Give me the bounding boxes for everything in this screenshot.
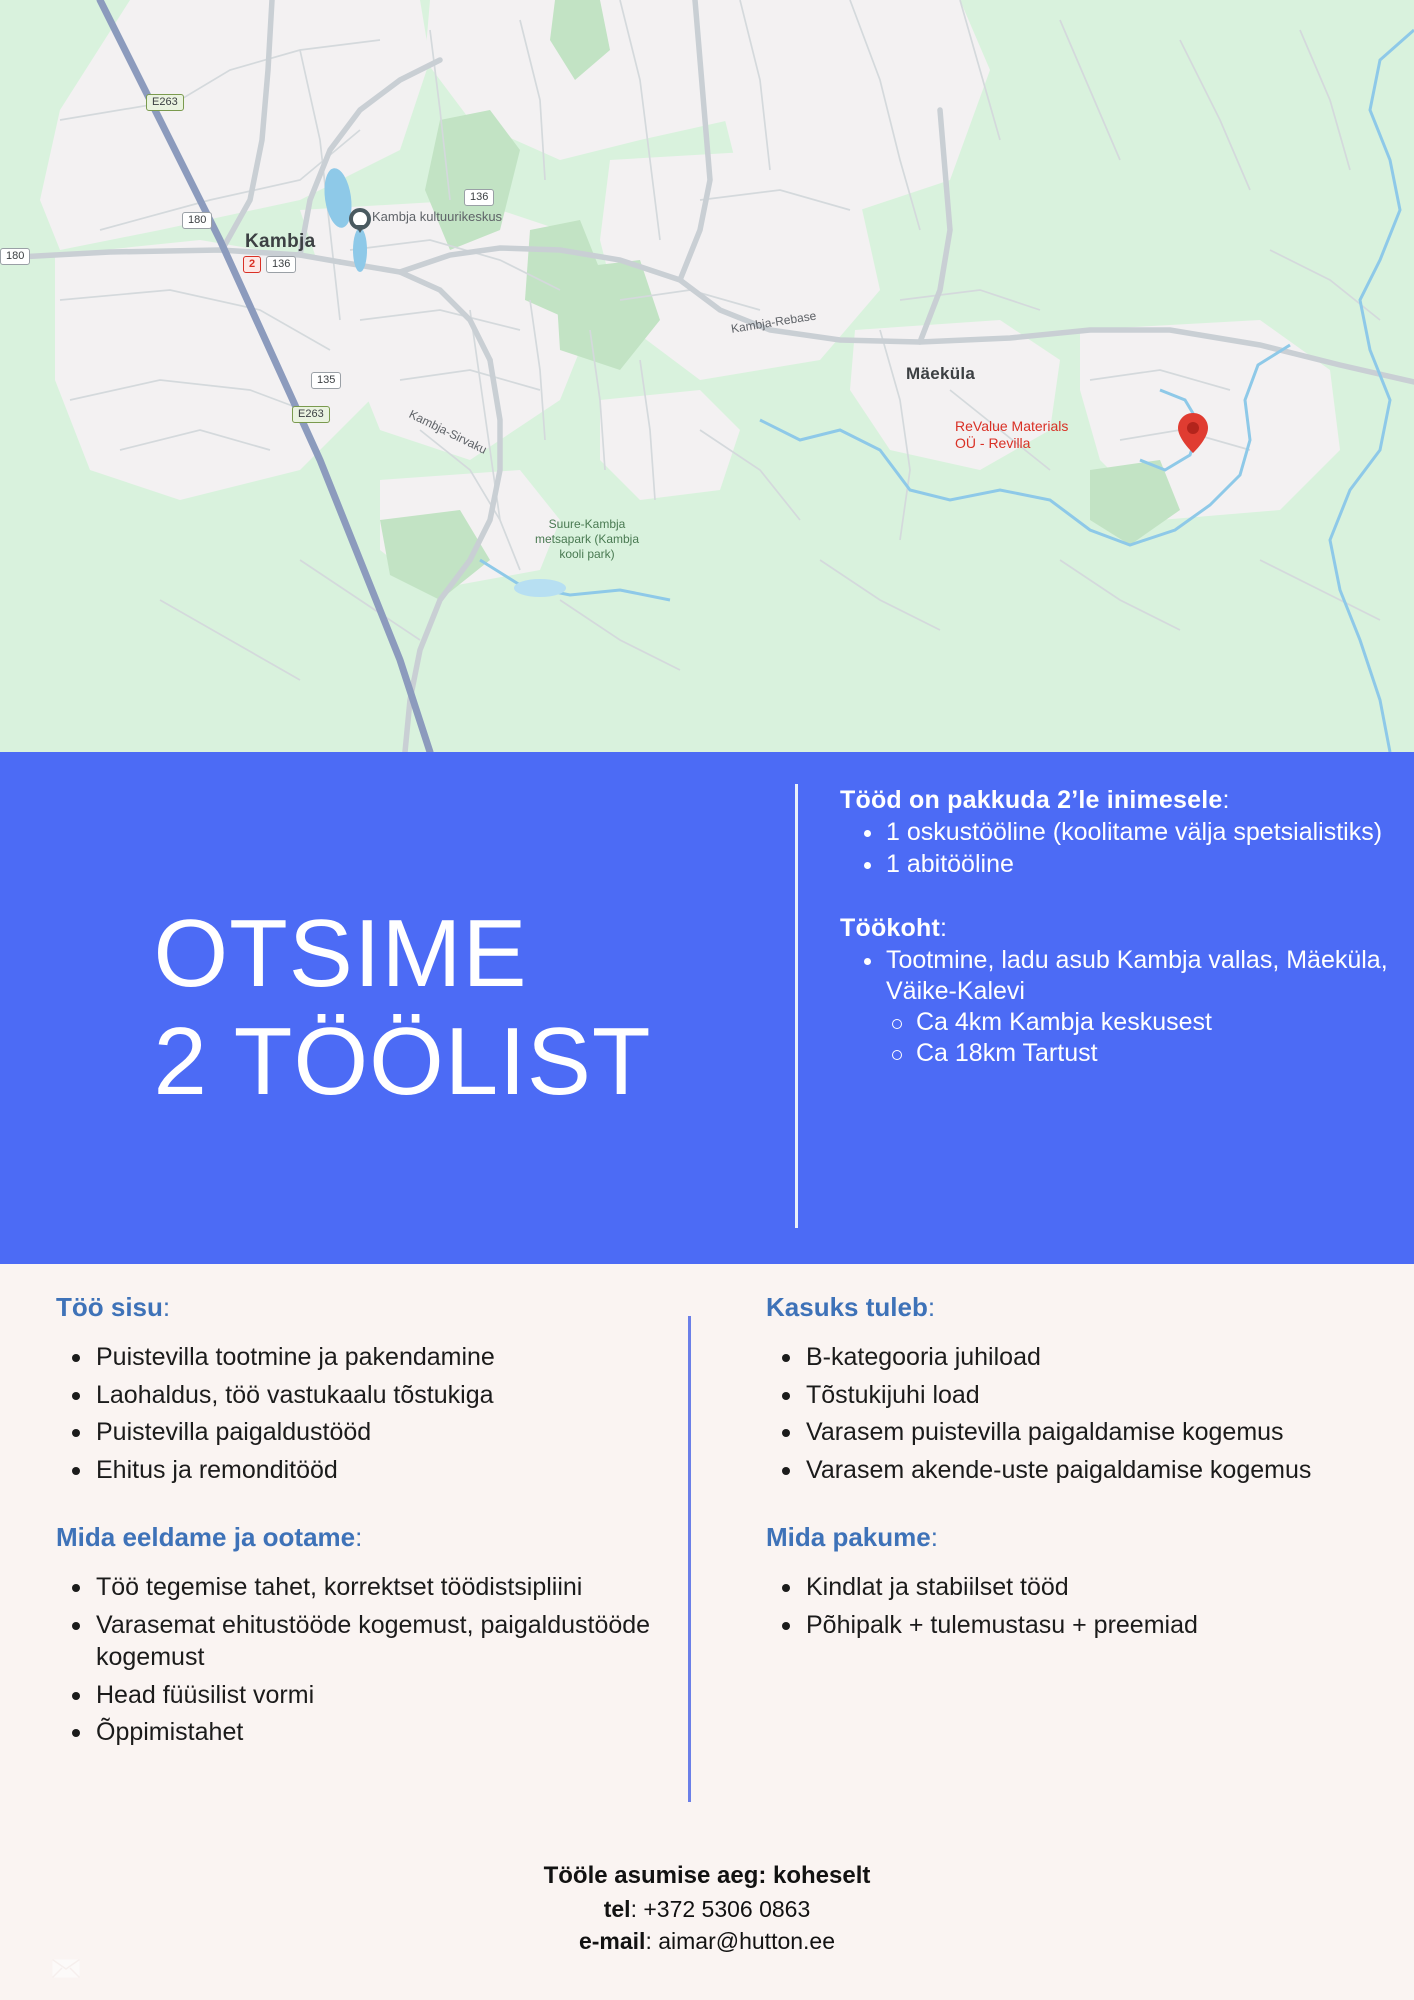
positions-heading-text: Tööd on pakkuda 2’le inimesele — [840, 786, 1223, 814]
contact-footer: Tööle asumise aeg: koheselt tel: +372 53… — [0, 1859, 1414, 1958]
list-item: Õppimistahet — [62, 1716, 662, 1749]
route-shield-e263-north: E263 — [146, 94, 184, 111]
list-item: Ehitus ja remonditööd — [62, 1454, 662, 1487]
advantages-heading: Kasuks tuleb: — [766, 1292, 1384, 1323]
route-shield-136-a: 136 — [464, 189, 494, 206]
list-item: Head füüsilist vormi — [62, 1679, 662, 1712]
advantages-heading-colon: : — [928, 1292, 935, 1322]
list-item: Töö tegemise tahet, korrektset töödistsi… — [62, 1571, 662, 1604]
expectations-heading: Mida eeldame ja ootame: — [56, 1522, 662, 1553]
job-content-list: Puistevilla tootmine ja pakendamine Laoh… — [62, 1341, 662, 1486]
route-shield-136-b: 136 — [266, 256, 296, 273]
list-item: Laohaldus, töö vastukaalu tõstukiga — [62, 1379, 662, 1412]
offer-heading-colon: : — [931, 1522, 938, 1552]
poi-line-1: ReValue Materials — [955, 418, 1068, 434]
details-columns: Töö sisu: Puistevilla tootmine ja pakend… — [0, 1292, 1414, 1754]
map-canvas — [0, 0, 1414, 752]
phone-line[interactable]: tel: +372 5306 0863 — [0, 1893, 1414, 1926]
list-item: 1 abitööline — [852, 849, 1394, 880]
job-content-heading: Töö sisu: — [56, 1292, 662, 1323]
offer-list: Kindlat ja stabiilset tööd Põhipalk + tu… — [772, 1571, 1384, 1641]
advantages-list: B-kategooria juhiload Tõstukijuhi load V… — [772, 1341, 1384, 1486]
list-item: B-kategooria juhiload — [772, 1341, 1384, 1374]
workplace-heading: Töökoht: — [840, 914, 1394, 943]
phone-label: tel — [604, 1896, 631, 1922]
list-item: Tootmine, ladu asub Kambja vallas, Mäekü… — [852, 945, 1394, 1006]
email-label: e-mail — [579, 1928, 645, 1954]
offer-heading: Mida pakume: — [766, 1522, 1384, 1553]
poi-line-2: OÜ - Revilla — [955, 435, 1030, 451]
route-shield-e263-south: E263 — [292, 406, 330, 423]
workplace-heading-colon: : — [940, 914, 947, 942]
positions-heading-colon: : — [1223, 786, 1230, 814]
list-item: Tõstukijuhi load — [772, 1379, 1384, 1412]
email-value: : aimar@hutton.ee — [645, 1928, 835, 1954]
hero-headline-area: OTSIME 2 TÖÖLIST — [0, 752, 795, 1264]
details-column-left: Töö sisu: Puistevilla tootmine ja pakend… — [0, 1292, 688, 1754]
list-item: Ca 4km Kambja keskusest — [880, 1007, 1394, 1038]
positions-heading: Tööd on pakkuda 2’le inimesele: — [840, 786, 1394, 815]
details-section: Töö sisu: Puistevilla tootmine ja pakend… — [0, 1264, 1414, 2000]
route-shield-180-a: 180 — [182, 212, 212, 229]
workplace-heading-text: Töökoht — [840, 914, 940, 942]
page-title: OTSIME 2 TÖÖLIST — [153, 900, 651, 1117]
map-section[interactable]: Kambja Mäeküla Kambja kultuurikeskus Kam… — [0, 0, 1414, 752]
workplace-sublist: Ca 4km Kambja keskusest Ca 18km Tartust — [880, 1007, 1394, 1068]
positions-list: 1 oskustööline (koolitame välja spetsial… — [852, 817, 1394, 879]
expectations-heading-text: Mida eeldame ja ootame — [56, 1522, 355, 1552]
advantages-heading-text: Kasuks tuleb — [766, 1292, 928, 1322]
hero-section: OTSIME 2 TÖÖLIST Tööd on pakkuda 2’le in… — [0, 752, 1414, 1264]
envelope-icon — [52, 1959, 80, 1978]
offer-heading-text: Mida pakume — [766, 1522, 931, 1552]
job-advert-poster: Kambja Mäeküla Kambja kultuurikeskus Kam… — [0, 0, 1414, 2000]
phone-value: : +372 5306 0863 — [631, 1896, 811, 1922]
route-shield-180-b: 180 — [0, 248, 30, 265]
list-item: Varasem puistevilla paigaldamise kogemus — [772, 1416, 1384, 1449]
list-item: Puistevilla tootmine ja pakendamine — [62, 1341, 662, 1374]
expectations-list: Töö tegemise tahet, korrektset töödistsi… — [62, 1571, 662, 1749]
list-item: Põhipalk + tulemustasu + preemiad — [772, 1609, 1384, 1642]
route-shield-135: 135 — [311, 372, 341, 389]
hero-spacer — [840, 880, 1394, 914]
start-date-line: Tööle asumise aeg: koheselt — [0, 1859, 1414, 1893]
hero-details-area: Tööd on pakkuda 2’le inimesele: 1 oskust… — [798, 752, 1414, 1264]
job-content-heading-colon: : — [163, 1292, 170, 1322]
list-item: Puistevilla paigaldustööd — [62, 1416, 662, 1449]
details-column-right: Kasuks tuleb: B-kategooria juhiload Tõst… — [688, 1292, 1414, 1754]
list-item: Kindlat ja stabiilset tööd — [772, 1571, 1384, 1604]
kultuurikeskus-poi-icon[interactable] — [349, 208, 371, 230]
workplace-list: Tootmine, ladu asub Kambja vallas, Mäekü… — [852, 945, 1394, 1006]
route-shield-2: 2 — [243, 256, 261, 273]
poi-revalue-materials[interactable]: ReValue Materials OÜ - Revilla — [955, 418, 1068, 452]
list-item: 1 oskustööline (koolitame välja spetsial… — [852, 817, 1394, 848]
job-content-heading-text: Töö sisu — [56, 1292, 163, 1322]
list-item: Varasemat ehitustööde kogemust, paigaldu… — [62, 1609, 662, 1674]
list-item: Varasem akende-uste paigaldamise kogemus — [772, 1454, 1384, 1487]
expectations-heading-colon: : — [355, 1522, 362, 1552]
list-item: Ca 18km Tartust — [880, 1038, 1394, 1069]
email-line[interactable]: e-mail: aimar@hutton.ee — [0, 1925, 1414, 1958]
